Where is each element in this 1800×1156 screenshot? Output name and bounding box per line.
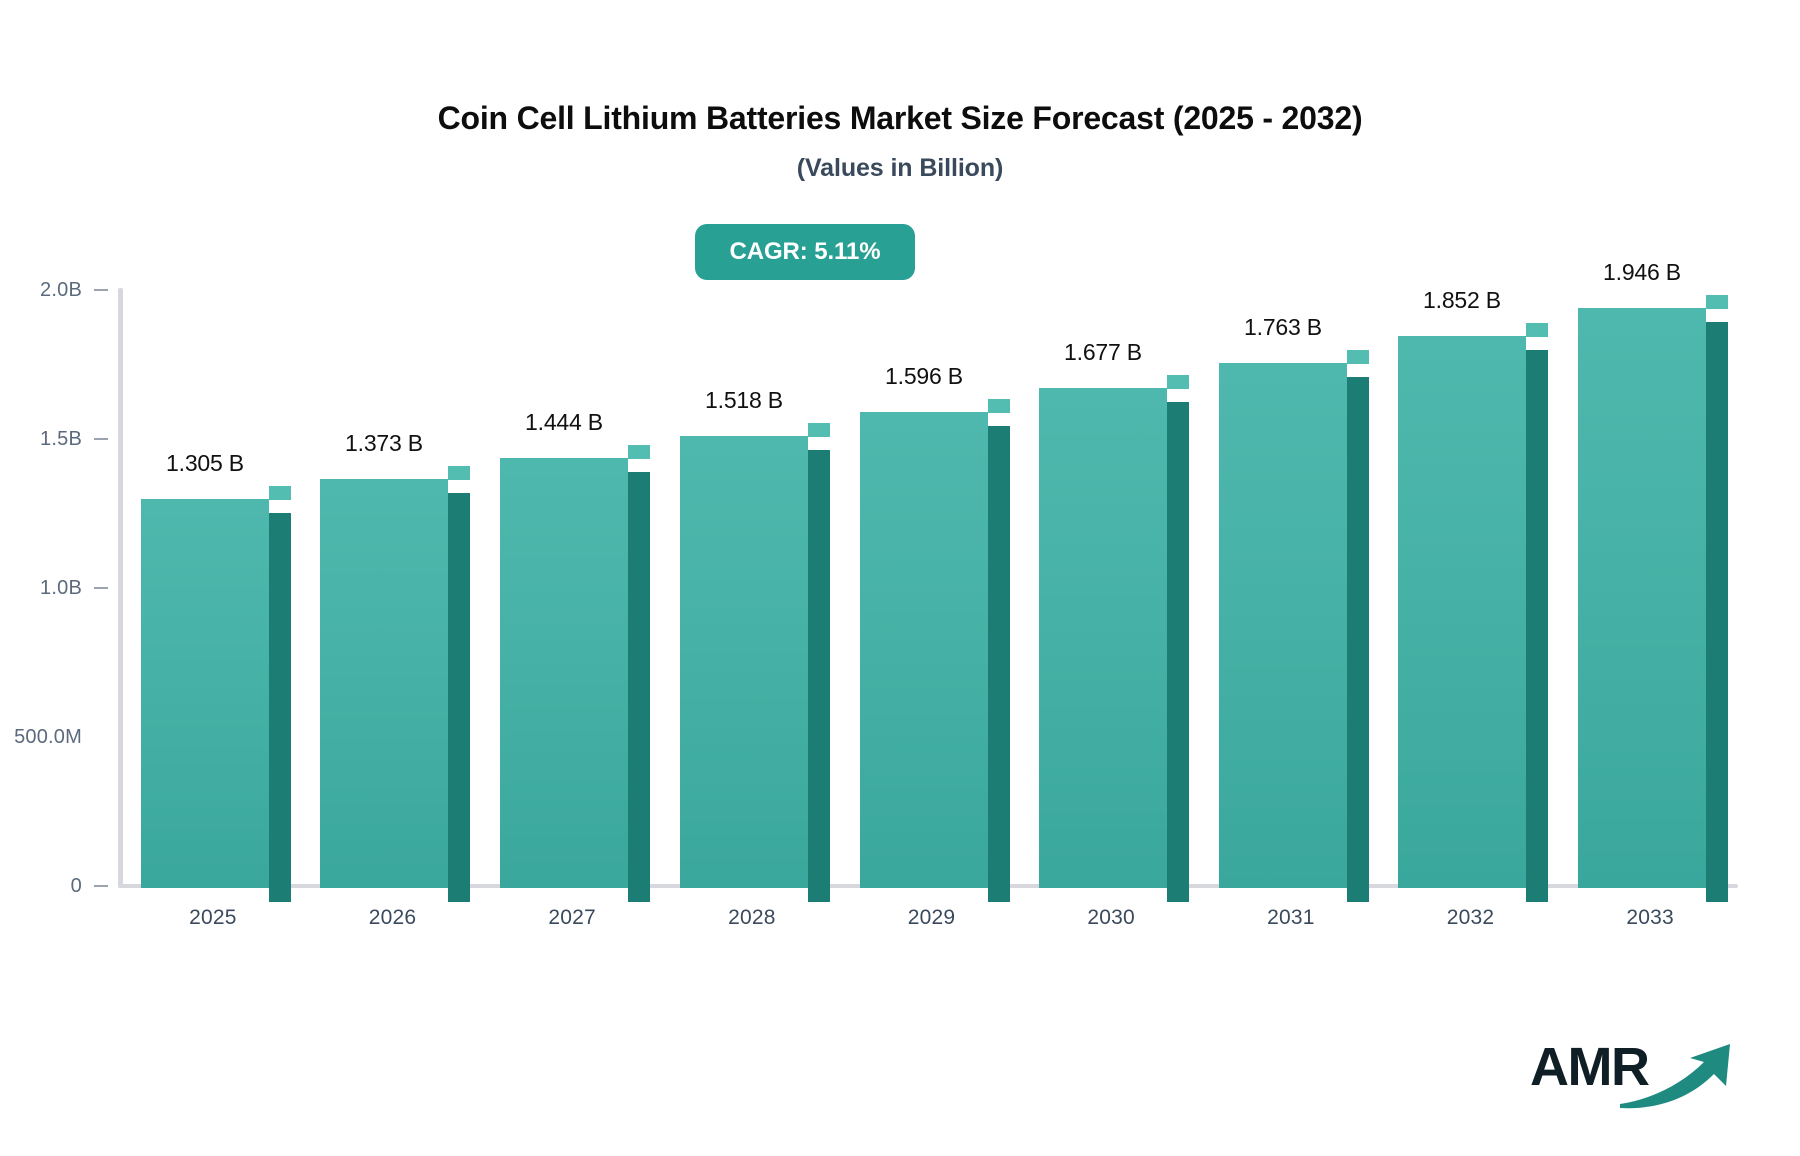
x-axis-label: 2026 (333, 906, 453, 930)
bar-side-face (628, 472, 650, 902)
bar-top-face (988, 399, 1010, 413)
bar-side-face (1706, 322, 1728, 902)
amr-logo: AMR (1530, 1040, 1770, 1120)
bar-value-label: 1.596 B (860, 363, 988, 390)
bar-front-face[interactable] (500, 458, 628, 888)
bar-front-face[interactable] (1219, 363, 1347, 888)
bar-value-label: 1.305 B (141, 450, 269, 477)
bar-group[interactable]: 1.946 B (1578, 308, 1706, 888)
x-axis-label: 2032 (1411, 906, 1531, 930)
bar-value-label: 1.373 B (320, 430, 448, 457)
bar-value-label: 1.518 B (680, 387, 808, 414)
bar-value-label: 1.677 B (1039, 339, 1167, 366)
bar-top-face (269, 486, 291, 500)
x-axis-label: 2033 (1590, 906, 1710, 930)
bar-front-face[interactable] (1398, 336, 1526, 888)
bar-group[interactable]: 1.596 B (860, 412, 988, 888)
bar-side-face (1526, 350, 1548, 902)
bar-front-face[interactable] (141, 499, 269, 888)
chart-container: Coin Cell Lithium Batteries Market Size … (0, 0, 1800, 1156)
bar-value-label: 1.946 B (1578, 259, 1706, 286)
bar-front-face[interactable] (680, 436, 808, 888)
bar-front-face[interactable] (1039, 388, 1167, 888)
bar-front-face[interactable] (860, 412, 988, 888)
x-axis-label: 2028 (692, 906, 812, 930)
bar-group[interactable]: 1.518 B (680, 436, 808, 888)
bar-group[interactable]: 1.444 B (500, 458, 628, 888)
bars-layer: 1.305 B1.373 B1.444 B1.518 B1.596 B1.677… (0, 0, 1800, 1156)
x-axis-label: 2027 (512, 906, 632, 930)
bar-group[interactable]: 1.305 B (141, 499, 269, 888)
bar-top-face (1526, 323, 1548, 337)
bar-value-label: 1.444 B (500, 409, 628, 436)
bar-value-label: 1.763 B (1219, 314, 1347, 341)
bar-top-face (628, 445, 650, 459)
bar-top-face (808, 423, 830, 437)
bar-side-face (269, 513, 291, 902)
bar-top-face (1167, 375, 1189, 389)
bar-side-face (808, 450, 830, 902)
growth-arrow-icon (1618, 1042, 1748, 1114)
bar-top-face (448, 466, 470, 480)
bar-top-face (1347, 350, 1369, 364)
bar-value-label: 1.852 B (1398, 287, 1526, 314)
plot-area: 2.0B1.5B1.0B500.0M0 1.305 B1.373 B1.444 … (0, 0, 1800, 1156)
bar-group[interactable]: 1.373 B (320, 479, 448, 888)
x-axis-label: 2025 (153, 906, 273, 930)
bar-side-face (448, 493, 470, 902)
bar-side-face (988, 426, 1010, 902)
x-axis-label: 2031 (1231, 906, 1351, 930)
bar-front-face[interactable] (320, 479, 448, 888)
x-axis-label: 2030 (1051, 906, 1171, 930)
bar-group[interactable]: 1.763 B (1219, 363, 1347, 888)
bar-top-face (1706, 295, 1728, 309)
bar-group[interactable]: 1.852 B (1398, 336, 1526, 888)
bar-front-face[interactable] (1578, 308, 1706, 888)
bar-side-face (1167, 402, 1189, 902)
bar-side-face (1347, 377, 1369, 902)
bar-group[interactable]: 1.677 B (1039, 388, 1167, 888)
x-axis-label: 2029 (872, 906, 992, 930)
